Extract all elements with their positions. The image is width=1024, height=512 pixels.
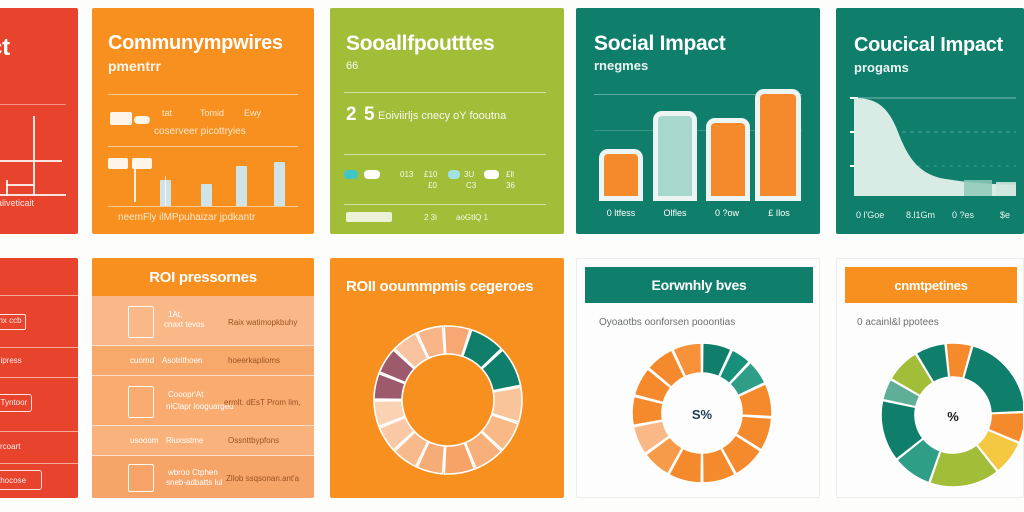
p5-title: Coucical Impact	[854, 34, 1003, 57]
p10-center-label: %	[947, 409, 959, 424]
p5-xlabel-0: 0 l'Goe	[856, 210, 884, 220]
bar-0	[604, 154, 638, 196]
donut-slice[interactable]	[963, 346, 1024, 413]
p3-tick-2: £0	[428, 181, 437, 190]
p3-footer-1: 2 3l	[424, 213, 437, 222]
dashboard-collage: act g r ccOaliveticait Communympwires pm…	[0, 0, 1024, 512]
row-4-c2: sneb-adbatts lul	[166, 478, 222, 487]
row-1-c3: hoeerkaplioms	[228, 356, 280, 365]
p2-col-2: Tomid	[200, 108, 224, 118]
p3-footer-chip	[346, 212, 392, 222]
p10-subtitle: 0 acainl&l ppotees	[857, 317, 939, 328]
p5-area-chart	[836, 86, 1024, 221]
p10-header-label: cnmtpetines	[894, 278, 967, 293]
row-4-c1: wbroo Ctphen	[168, 468, 218, 477]
p2-row-label: coserveer picottryies	[154, 126, 246, 137]
programs-donut-card[interactable]: cnmtpetines 0 acainl&l ppotees %	[836, 258, 1024, 498]
p3-stat-2: 5	[364, 104, 375, 126]
p2-subtitle: pmentrr	[108, 58, 161, 74]
bar-3	[760, 94, 796, 196]
p5-xlabel-1: 8.l1Gm	[906, 210, 935, 220]
table-row[interactable]	[92, 346, 314, 376]
p4-xlabel-2: 0 ?ow	[704, 208, 750, 218]
row-3-c1: usooom	[130, 436, 158, 445]
social-impact-bar-panel[interactable]: Social Impact rnegmes 0 ltfess Olfles 0 …	[576, 8, 820, 234]
p2-footer: neemFly ilMPpuhaizar jpdkantr	[118, 212, 255, 223]
p3-tick-3: 3U	[464, 170, 474, 179]
bar-chart-icon	[128, 306, 154, 338]
row-1-c1: cuomd	[130, 356, 154, 365]
row-0-c2: cnaxt tevos	[164, 320, 204, 329]
bar-1	[658, 116, 692, 196]
row-0-c3: Raix watimopkbuhy	[228, 318, 297, 327]
p4-xlabel-3: £ Ilos	[754, 208, 804, 218]
p5-xlabel-3: $e	[1000, 210, 1010, 220]
p3-tick-0: 013	[400, 170, 413, 179]
p4-subtitle: rnegmes	[594, 58, 648, 73]
p2-col-3: Ewy	[244, 108, 261, 118]
roi-table-header-label: ROI pressornes	[149, 269, 257, 286]
p3-subtitle: 66	[346, 60, 358, 72]
row-3-c3: Ossnttbypfons	[228, 436, 279, 445]
p9-header-label: Eorwnhly bves	[652, 277, 747, 293]
bar-chart-icon	[128, 386, 154, 418]
roi-programs-table-panel[interactable]: ROI pressornes 1At, cnaxt tevos Raix wat…	[92, 258, 314, 498]
p5-subtitle: progams	[854, 60, 909, 75]
p9-center-label: S%	[692, 407, 713, 422]
social-impact-green-panel[interactable]: Sooallfpoutttes 66 2 5 Eoiviirljs cnecy …	[330, 8, 564, 234]
p6-row-1-label: nipress	[0, 356, 22, 365]
row-2-c1: Cooopr'At	[168, 390, 203, 399]
impact-red-chart-panel[interactable]: act g r ccOaliveticait	[0, 8, 78, 234]
p10-donut-chart[interactable]: %	[861, 335, 1024, 495]
p4-xlabel-1: Olfles	[652, 208, 698, 218]
p1-title: act	[0, 34, 10, 62]
red-list-panel[interactable]: tmx ccb nipress e Tyntoor vrcoart thocos…	[0, 258, 78, 498]
p3-tick-6: 36	[506, 181, 515, 190]
p6-row-3-label: vrcoart	[0, 442, 20, 451]
p3-stat-1: 2	[346, 104, 357, 126]
p3-stat-label: Eoiviirljs cnecy oY fooutna	[378, 110, 506, 122]
p8-title: ROII ooummpmis cegeroes	[346, 278, 533, 295]
p10-header: cnmtpetines	[845, 267, 1017, 303]
community-programs-orange-panel[interactable]: Communympwires pmentrr tat Tomid Ewy cos…	[92, 8, 314, 234]
row-1-c2: Asotrithoen	[162, 356, 202, 365]
row-3-c2: Rluxsstme	[166, 436, 203, 445]
p4-xlabel-0: 0 ltfess	[598, 208, 644, 218]
p9-donut-chart[interactable]: S%	[607, 335, 797, 495]
row-2-c3: ermlt. dEsT Prom lim,	[224, 398, 301, 407]
p3-legend: 013 £10 £0 3U C3 £ll 36	[344, 168, 552, 202]
p9-header: Eorwnhly bves	[585, 267, 813, 303]
p8-donut-chart[interactable]	[348, 310, 548, 490]
council-impact-area-panel[interactable]: Coucical Impact progams 0 l'Goe 8.l1Gm 0…	[836, 8, 1024, 234]
p2-title: Communympwires	[108, 32, 283, 55]
p9-subtitle: Oyoaotbs oonforsen pooontias	[599, 317, 735, 328]
p4-bar-chart	[598, 84, 800, 196]
bar-chart-icon	[128, 464, 154, 492]
p5-xlabel-2: 0 ?es	[952, 210, 974, 220]
p4-title: Social Impact	[594, 32, 725, 56]
p3-tick-5: £ll	[506, 170, 514, 179]
row-4-c3: Zllob ssqsonan.ant'a	[226, 474, 299, 483]
p2-bar-chart	[108, 156, 298, 206]
p1-caption: g r ccOaliveticait	[0, 198, 34, 208]
community-donut-card[interactable]: Eorwnhly bves Oyoaotbs oonforsen pooonti…	[576, 258, 820, 498]
roi-table-header: ROI pressornes	[92, 258, 314, 296]
p3-title: Sooallfpoutttes	[346, 32, 494, 56]
bar-2	[711, 123, 745, 196]
p1-chart	[0, 104, 66, 196]
row-0-c1: 1At,	[168, 310, 182, 319]
p3-tick-4: C3	[466, 181, 476, 190]
p3-footer-2: aoGtlQ 1	[456, 213, 488, 222]
p2-col-1: tat	[162, 108, 172, 118]
roi-donut-orange-panel[interactable]: ROII ooummpmis cegeroes	[330, 258, 564, 498]
p3-tick-1: £10	[424, 170, 437, 179]
